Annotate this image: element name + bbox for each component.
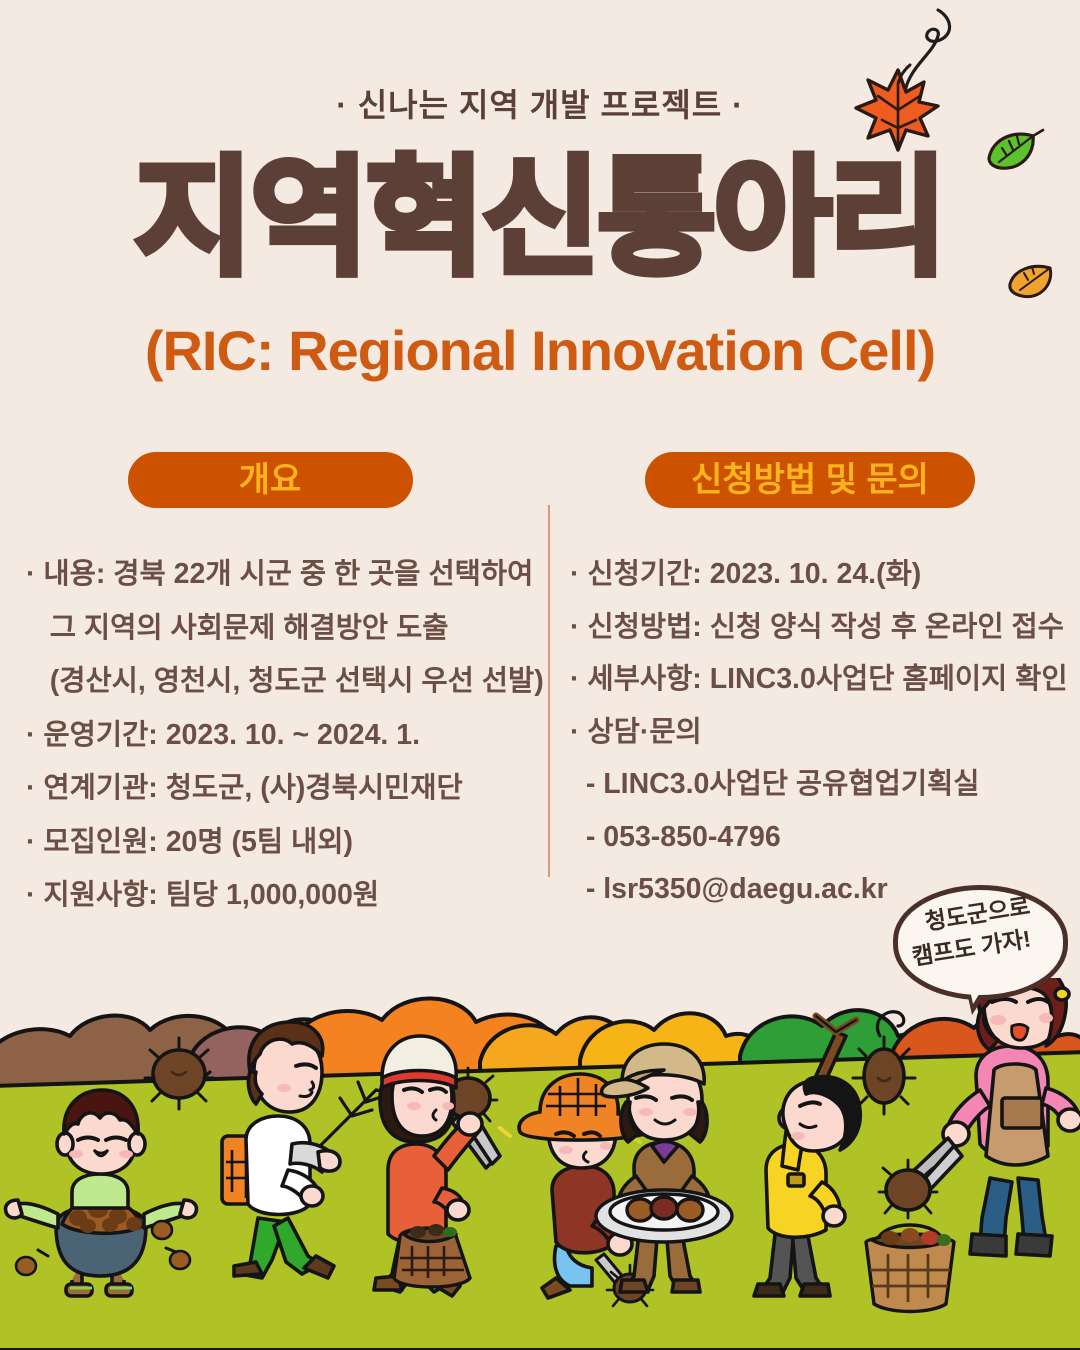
speech-bubble-text: 청도군으로 캠프도 가자! <box>893 898 1058 965</box>
list-item: · 연계기관: 청도군, (사)경북시민재단 <box>26 774 540 803</box>
list-item: 그 지역의 사회문제 해결방안 도출 <box>26 614 540 643</box>
page-subtitle: (RIC: Regional Innovation Cell) <box>0 318 1080 383</box>
list-item: · 세부사항: LINC3.0사업단 홈페이지 확인 <box>570 665 1080 694</box>
column-divider <box>548 505 550 877</box>
list-item: · 모집인원: 20명 (5팀 내외) <box>26 828 540 857</box>
chestnut-tray <box>596 1190 732 1242</box>
wicker-basket <box>866 1225 954 1312</box>
page-title: 지역혁신통아리 <box>0 152 1080 286</box>
overview-list: · 내용: 경북 22개 시군 중 한 곳을 선택하여 그 지역의 사회문제 해… <box>0 560 540 910</box>
list-item: - 053-850-4796 <box>570 823 1080 852</box>
apply-list: · 신청기간: 2023. 10. 24.(화) · 신청방법: 신청 양식 작… <box>540 560 1080 904</box>
list-item: · 신청기간: 2023. 10. 24.(화) <box>570 560 1080 589</box>
apply-badge: 신청방법 및 문의 <box>645 452 975 508</box>
list-item: · 상담·문의 <box>570 718 1080 747</box>
list-item: · 운영기간: 2023. 10. ~ 2024. 1. <box>26 721 540 750</box>
list-item: · 신청방법: 신청 양식 작성 후 온라인 접수 <box>570 613 1080 642</box>
list-item: · 지원사항: 팀당 1,000,000원 <box>26 881 540 910</box>
illustration-scene <box>0 978 1080 1350</box>
eyebrow-text: · 신나는 지역 개발 프로젝트 · <box>0 80 1080 126</box>
list-item: · 내용: 경북 22개 시군 중 한 곳을 선택하여 <box>26 560 540 589</box>
list-item: - LINC3.0사업단 공유협업기획실 <box>570 770 1080 799</box>
overview-column: 개요 · 내용: 경북 22개 시군 중 한 곳을 선택하여 그 지역의 사회문… <box>0 452 540 935</box>
speech-bubble-tail-inner <box>966 972 993 1004</box>
apply-column: 신청방법 및 문의 · 신청기간: 2023. 10. 24.(화) · 신청방… <box>540 452 1080 928</box>
list-item: (경산시, 영천시, 청도군 선택시 우선 선발) <box>26 667 540 696</box>
overview-badge: 개요 <box>128 452 413 508</box>
info-columns: 개요 · 내용: 경북 22개 시군 중 한 곳을 선택하여 그 지역의 사회문… <box>0 452 1080 922</box>
poster-root: · 신나는 지역 개발 프로젝트 · 지역혁신통아리 (RIC: Regiona… <box>0 0 1080 1350</box>
